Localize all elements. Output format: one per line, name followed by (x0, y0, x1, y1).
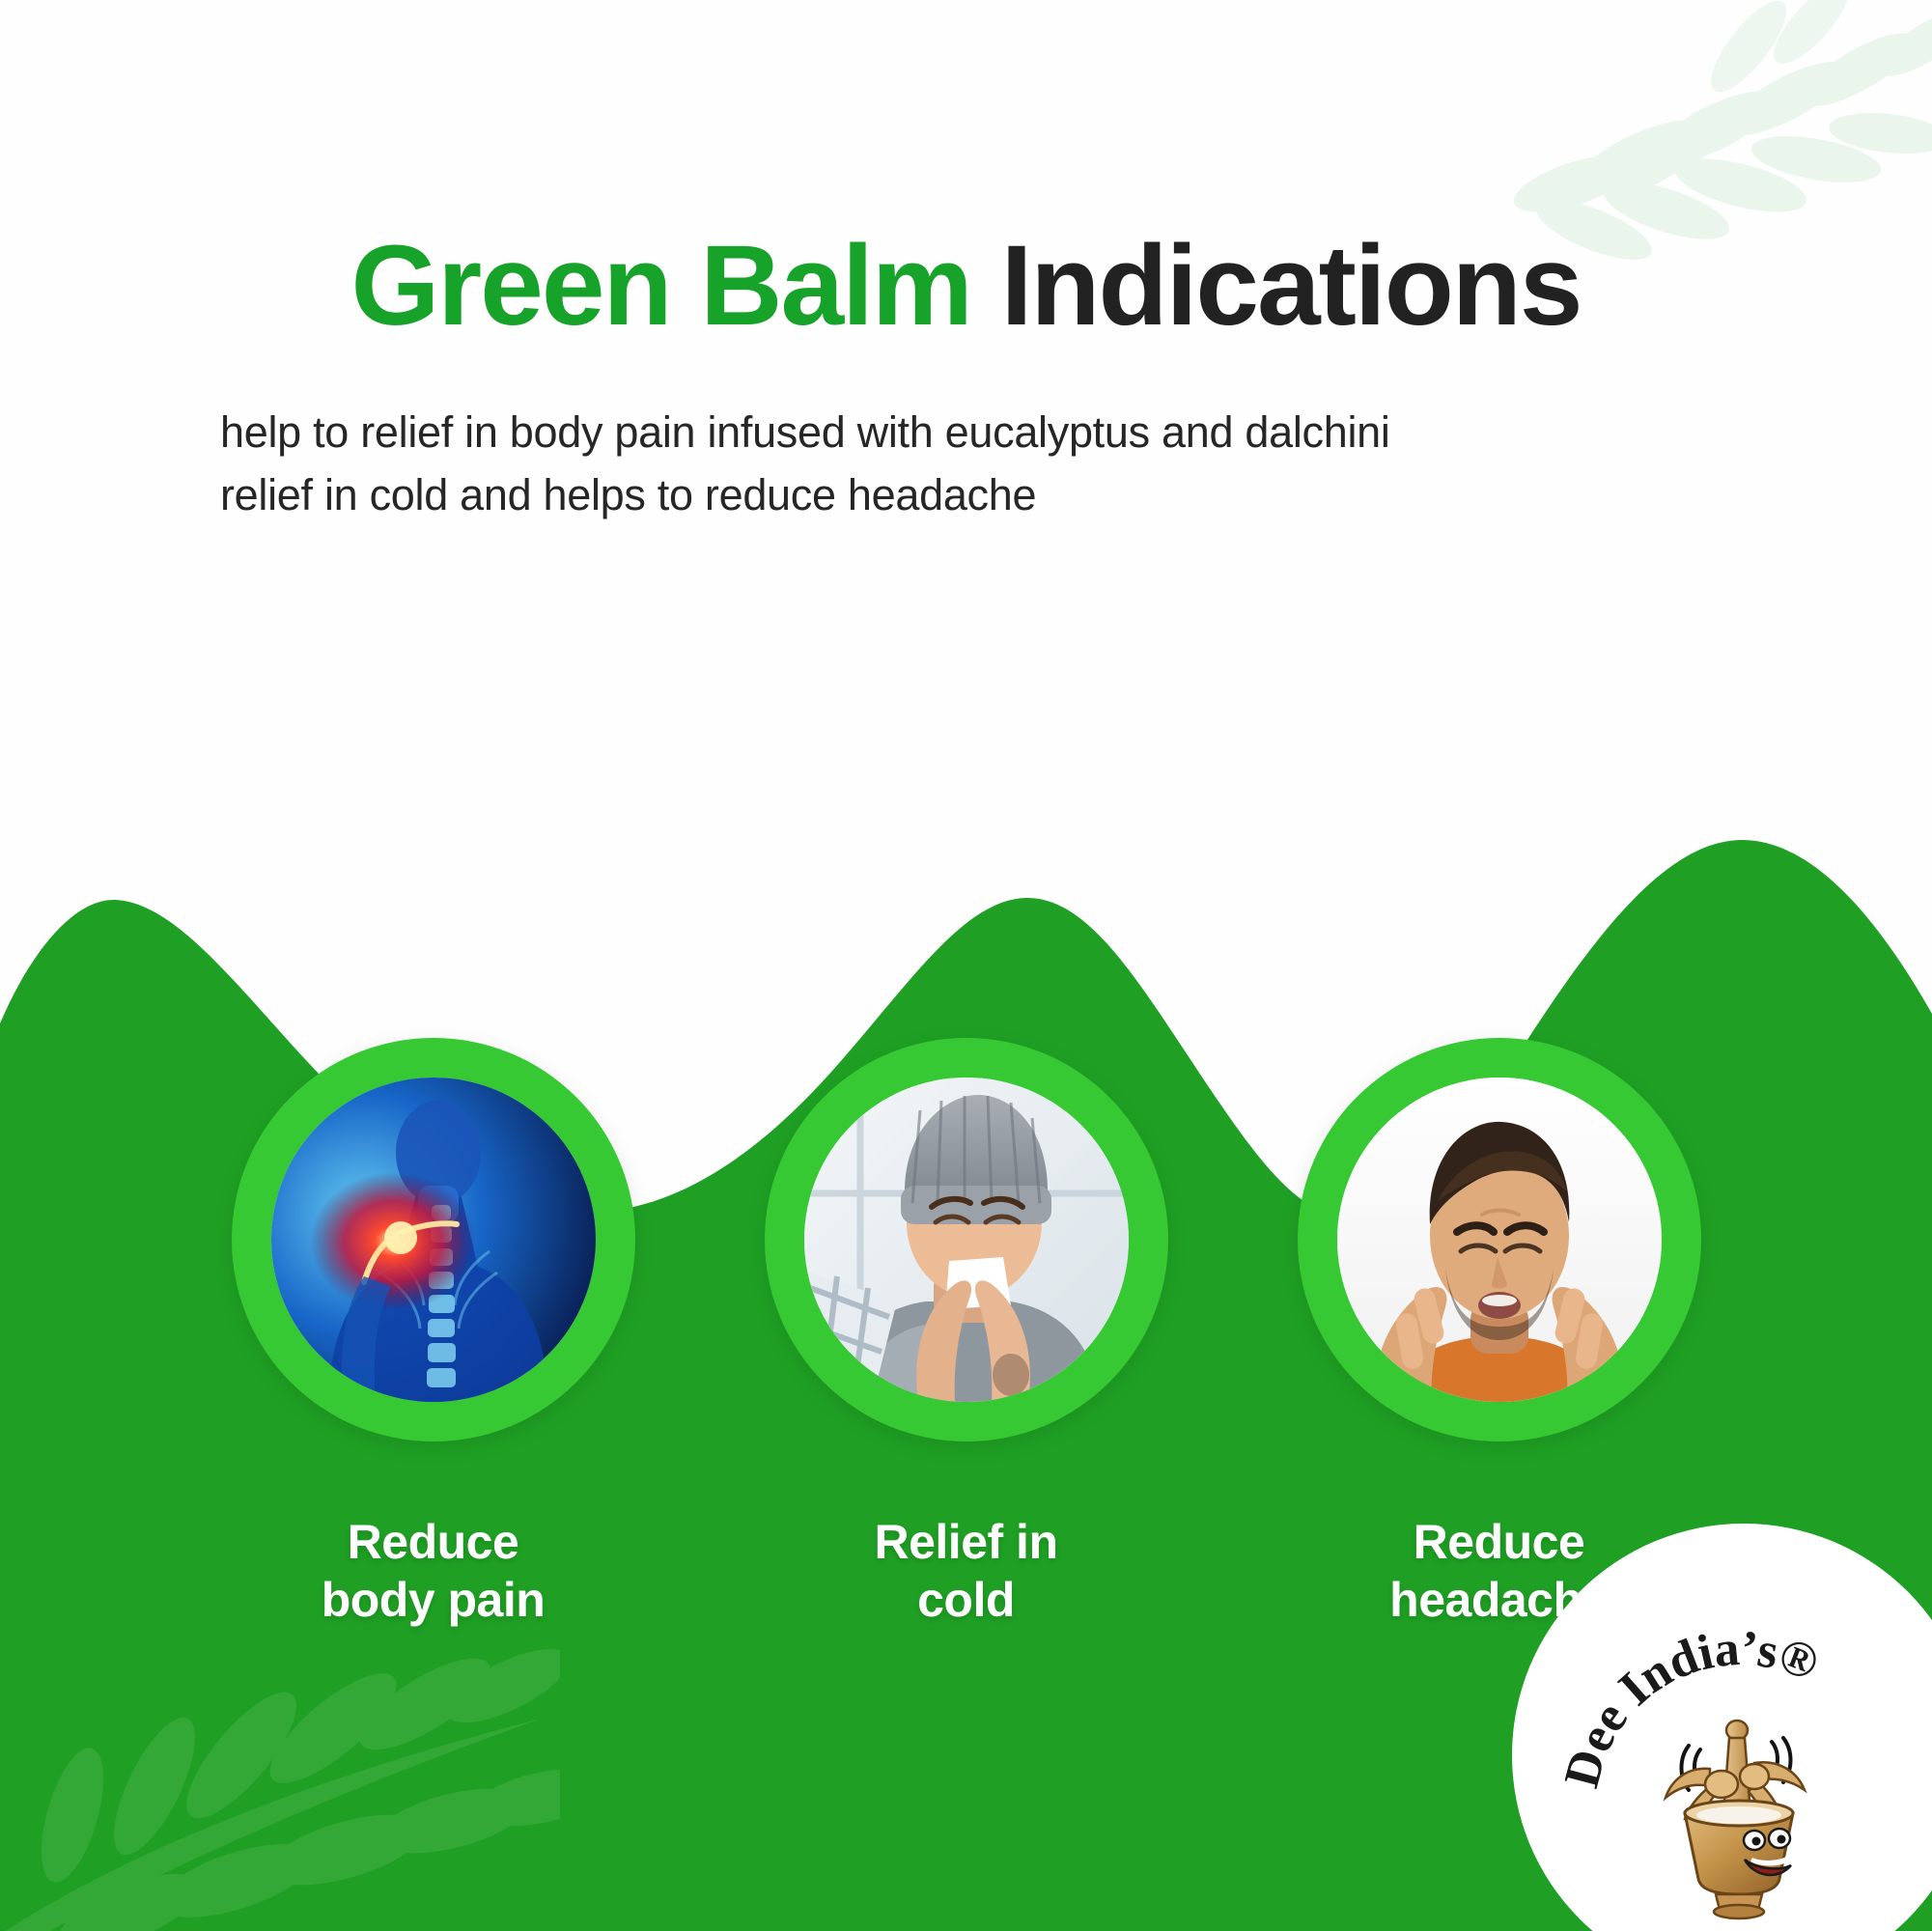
body-pain-xray-photo (271, 1077, 596, 1402)
card-ring (232, 1038, 635, 1441)
card-relief-in-cold[interactable]: Relief in cold (759, 1038, 1174, 1629)
man-blowing-nose-cold-photo (804, 1077, 1129, 1402)
card-label-line-1: Reduce (348, 1515, 519, 1569)
card-reduce-headache[interactable]: Reduce headache (1292, 1038, 1707, 1629)
card-label: Relief in cold (875, 1513, 1058, 1629)
card-ring (765, 1038, 1168, 1441)
subtitle: help to relief in body pain infused with… (0, 401, 1932, 527)
header: Green Balm Indications help to relief in… (0, 0, 1932, 526)
card-label-line-1: Reduce (1414, 1515, 1585, 1569)
card-label-line-2: body pain (322, 1571, 546, 1629)
card-label-line-1: Relief in (875, 1515, 1058, 1569)
title-dark-part: Indications (971, 222, 1582, 350)
page-title: Green Balm Indications (0, 227, 1932, 347)
man-with-headache-photo (1337, 1077, 1662, 1402)
card-reduce-body-pain[interactable]: Reduce body pain (226, 1038, 641, 1629)
card-label: Reduce body pain (322, 1513, 546, 1629)
subtitle-line-1: help to relief in body pain infused with… (220, 401, 1932, 463)
promo-poster: Green Balm Indications help to relief in… (0, 0, 1932, 1931)
title-green-part: Green Balm (350, 222, 970, 350)
subtitle-line-2: relief in cold and helps to reduce heada… (220, 463, 1932, 526)
card-label-line-2: cold (875, 1571, 1058, 1629)
card-ring (1298, 1038, 1701, 1441)
indication-cards: Reduce body pain (0, 1038, 1932, 1629)
